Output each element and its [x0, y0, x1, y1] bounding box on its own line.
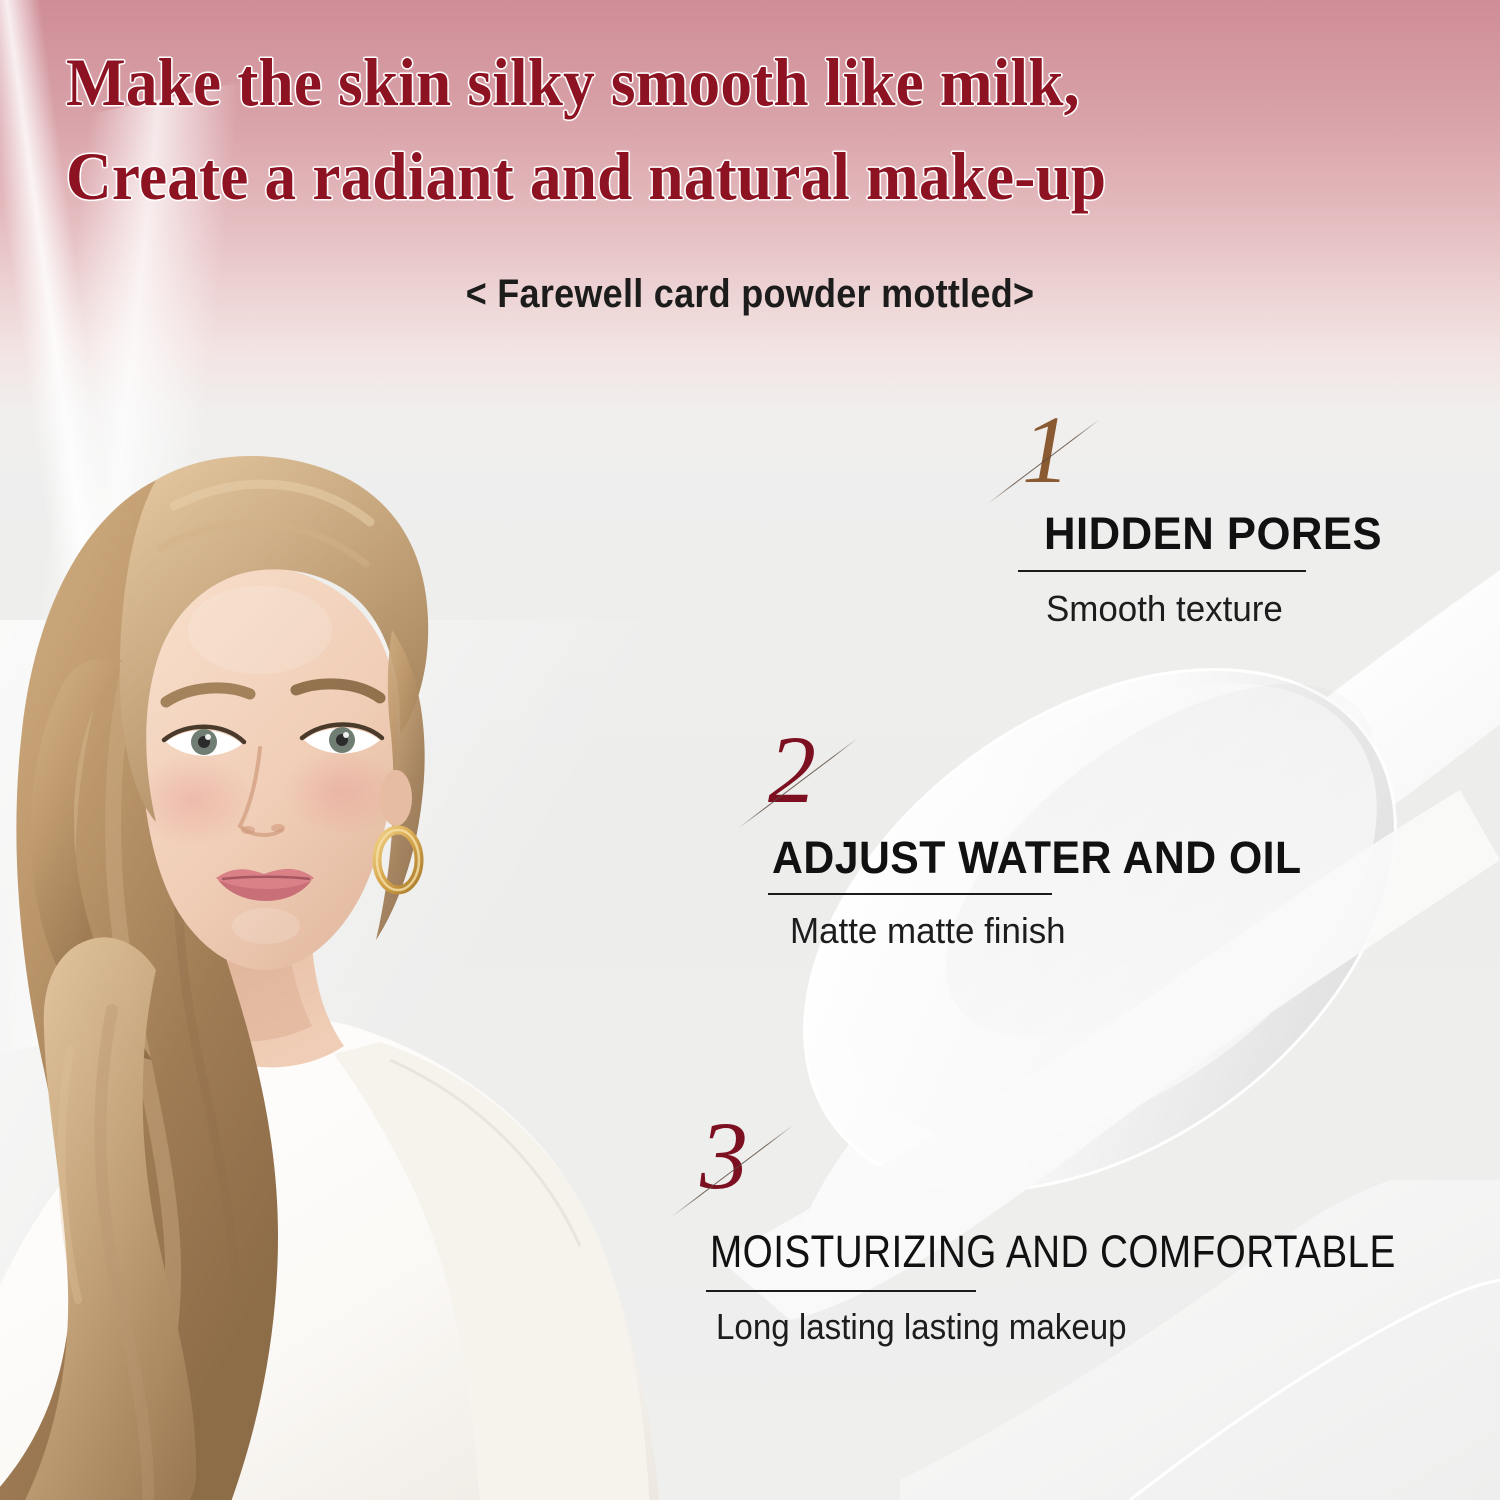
feature-number-1: 1: [1022, 402, 1070, 498]
product-promo-poster: Make the skin silky smooth like milk, Cr…: [0, 0, 1500, 1500]
feature-number-2: 2: [768, 722, 816, 818]
feature-underline-2: [768, 893, 1052, 895]
page-headline: Make the skin silky smooth like milk, Cr…: [66, 36, 1312, 224]
feature-title-1: HIDDEN PORES: [1044, 508, 1382, 560]
feature-subtitle-1: Smooth texture: [1046, 588, 1283, 630]
feature-subtitle-2: Matte matte finish: [790, 910, 1066, 952]
ear: [380, 770, 412, 826]
feature-title-3: MOISTURIZING AND COMFORTABLE: [710, 1226, 1396, 1278]
page-subtitle: < Farewell card powder mottled>: [75, 272, 1425, 317]
model-portrait-image: [0, 330, 740, 1500]
feature-subtitle-3: Long lasting lasting makeup: [716, 1306, 1127, 1348]
feature-title-2: ADJUST WATER AND OIL: [772, 832, 1302, 884]
feature-underline-1: [1018, 570, 1306, 572]
feature-underline-3: [706, 1290, 976, 1292]
